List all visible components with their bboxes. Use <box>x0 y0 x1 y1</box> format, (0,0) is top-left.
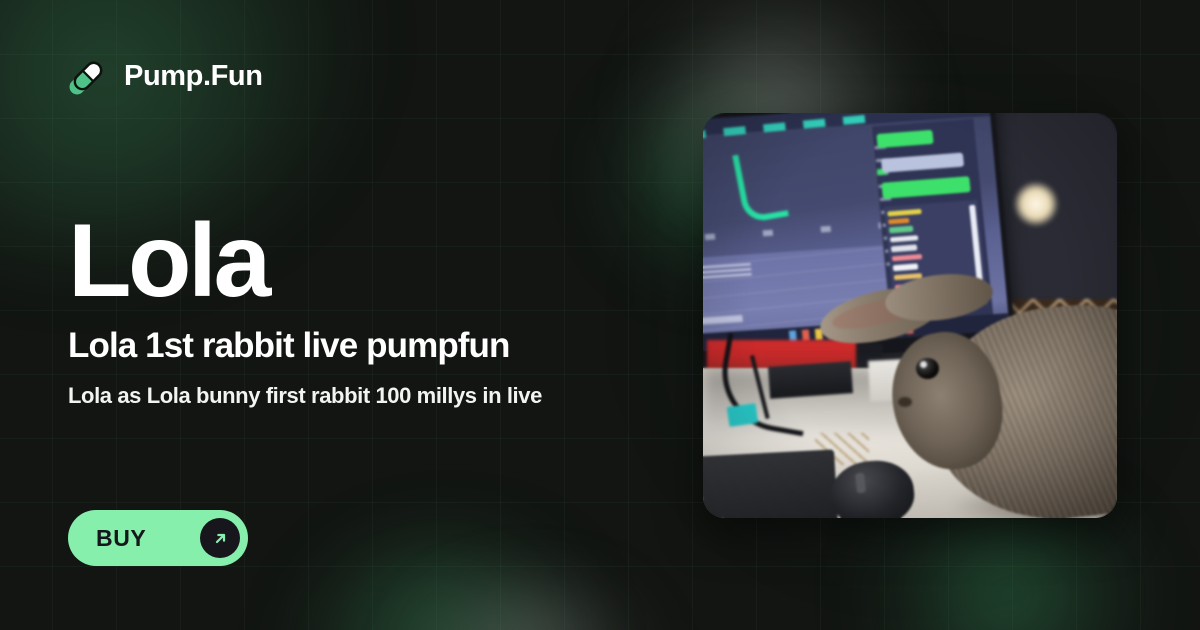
brand-lockup[interactable]: Pump.Fun <box>68 56 263 96</box>
brand-name: Pump.Fun <box>124 62 263 91</box>
rabbit-desk-photo <box>703 113 1117 518</box>
panel-input-field <box>881 152 964 172</box>
photo-rabbit-eye-highlight <box>920 361 927 368</box>
photo-teal-clip <box>727 403 759 427</box>
panel-scrollbar <box>969 204 984 287</box>
photo-mousepad <box>703 450 837 518</box>
hero-copy: Lola Lola 1st rabbit live pumpfun Lola a… <box>68 212 688 410</box>
screen-green-chart-line <box>733 149 790 225</box>
buy-button-label: BUY <box>96 527 146 550</box>
glow-bottom-left-grey <box>400 586 660 630</box>
panel-green-button-1 <box>877 130 935 148</box>
buy-button[interactable]: BUY <box>68 510 248 566</box>
photo-rabbit-nose <box>898 397 912 408</box>
hero-description: Lola as Lola bunny first rabbit 100 mill… <box>68 382 688 410</box>
media-card[interactable] <box>703 113 1117 518</box>
hero-subtitle: Lola 1st rabbit live pumpfun <box>68 326 688 366</box>
glow-bottom-right-green <box>858 500 1158 630</box>
og-card-root: Pump.Fun Lola Lola 1st rabbit live pumpf… <box>0 0 1200 630</box>
panel-green-button-2 <box>881 176 970 199</box>
glow-bottom-left-green <box>300 540 600 630</box>
page-title: Lola <box>68 212 688 312</box>
photo-ceiling-light <box>1014 182 1058 226</box>
pill-capsule-icon <box>68 56 108 96</box>
arrow-up-right-icon <box>200 518 240 558</box>
